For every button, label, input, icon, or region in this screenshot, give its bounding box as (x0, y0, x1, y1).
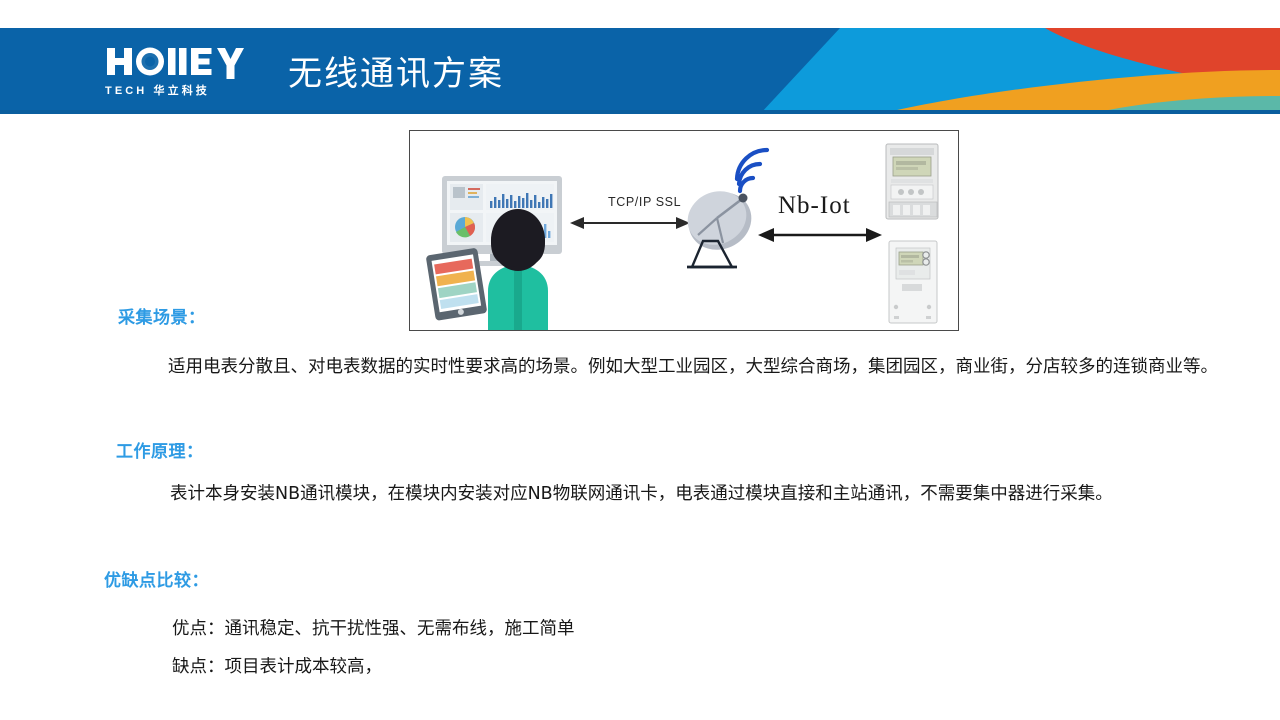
holley-logo: TECH 华立科技 (105, 44, 270, 100)
section-paragraph-scene: 适用电表分散且、对电表数据的实时性要求高的场景。例如大型工业园区，大型综合商场，… (128, 350, 1218, 384)
svg-text:Nb-Iot: Nb-Iot (778, 192, 851, 219)
satellite-dish-icon (679, 150, 767, 267)
electricity-meter-bottom-icon (889, 241, 937, 323)
diagram-frame: TCP/IP SSL Nb-Iot (409, 130, 959, 331)
tcpip-link-arrow: TCP/IP SSL (570, 195, 690, 229)
svg-text:TCP/IP SSL: TCP/IP SSL (608, 195, 681, 209)
section-heading-scene: 采集场景： (118, 303, 206, 328)
electricity-meter-top-icon (886, 144, 938, 219)
holley-wordmark-icon (105, 44, 265, 80)
header-bottom-rule (0, 110, 1280, 114)
paragraph-text: 适用电表分散且、对电表数据的实时性要求高的场景。例如大型工业园区，大型综合商场，… (168, 357, 1218, 377)
page-title: 无线通讯方案 (288, 46, 504, 95)
comparison-pros-line: 优点：通讯稳定、抗干扰性强、无需布线，施工简单 (172, 615, 575, 640)
holley-logo-subtitle: TECH 华立科技 (105, 82, 265, 98)
nbiot-link-arrow: Nb-Iot (758, 192, 882, 242)
section-heading-principle: 工作原理： (116, 437, 204, 462)
comparison-cons-line: 缺点：项目表计成本较高， (172, 653, 382, 678)
section-paragraph-principle: 表计本身安装NB通讯模块，在模块内安装对应NB物联网通讯卡，电表通过模块直接和主… (130, 477, 1210, 511)
section-heading-comparison: 优缺点比较： (104, 566, 209, 591)
slide-header: TECH 华立科技 无线通讯方案 (0, 28, 1280, 114)
topology-diagram: TCP/IP SSL Nb-Iot (410, 131, 958, 330)
operator-workstation-icon (426, 176, 562, 330)
paragraph-text: 表计本身安装NB通讯模块，在模块内安装对应NB物联网通讯卡，电表通过模块直接和主… (170, 484, 1113, 504)
